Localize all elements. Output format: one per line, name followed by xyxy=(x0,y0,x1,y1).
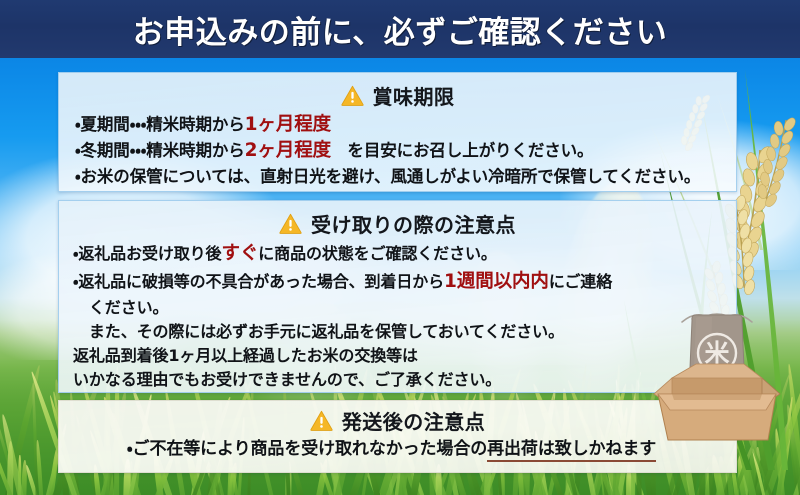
panel-body-after-shipping-notes: ・ご不在等により商品を受け取れなかった場合の再出荷は致しかねます xyxy=(59,437,736,461)
text-run: ください。 xyxy=(73,298,168,317)
panel-title-best-before: 賞味期限 xyxy=(373,81,455,110)
text-run: ・冬期間・・・精米時期から xyxy=(75,141,245,160)
text-line: ・夏期間・・・精米時期から1ヶ月程度 xyxy=(75,112,724,138)
warning-triangle-icon xyxy=(310,410,333,431)
text-line: ・冬期間・・・精米時期から2ヶ月程度 を目安にお召し上がりください。 xyxy=(75,138,724,164)
text-run: ・夏期間・・・精米時期から xyxy=(75,115,245,134)
text-run: ・返礼品お受け取り後 xyxy=(73,244,221,263)
highlight-red-text: 1ヶ月程度 xyxy=(245,114,331,135)
text-line: ・返礼品お受け取り後すぐに商品の状態をご確認ください。 xyxy=(73,240,724,268)
panel-header-receiving-notes: 受け取りの際の注意点 xyxy=(59,201,736,238)
warning-triangle-icon xyxy=(279,213,302,234)
text-line: いかなる理由でもお受けできませんので、ご了承ください。 xyxy=(73,368,724,392)
panel-body-best-before: ・夏期間・・・精米時期から1ヶ月程度・冬期間・・・精米時期から2ヶ月程度 を目安… xyxy=(59,112,736,189)
text-run: 返礼品到着後1ヶ月以上経過したお米の交換等は xyxy=(73,346,418,365)
text-run: ・ご不在等により商品を受け取れなかった場合の xyxy=(127,439,487,459)
text-run: を目安にお召し上がりください。 xyxy=(331,141,593,160)
page-header: お申込みの前に、必ずご確認ください xyxy=(0,0,800,58)
text-line: 返礼品到着後1ヶ月以上経過したお米の交換等は xyxy=(73,344,724,368)
underlined-text: 再出荷は致しかねます xyxy=(487,439,656,462)
text-run: ・返礼品に破損等の不具合があった場合、到着日から xyxy=(73,272,444,291)
rice-bag-in-open-box-illustration: 米 xyxy=(648,306,786,456)
text-line: ください。 xyxy=(73,296,724,320)
warning-triangle-icon xyxy=(341,85,364,106)
panel-title-receiving-notes: 受け取りの際の注意点 xyxy=(311,209,516,238)
text-line: ・ご不在等により商品を受け取れなかった場合の再出荷は致しかねます xyxy=(59,437,724,461)
panel-title-after-shipping-notes: 発送後の注意点 xyxy=(342,406,486,435)
highlight-red-text: すぐ xyxy=(221,243,258,264)
text-line: また、その際には必ずお手元に返礼品を保管しておいてください。 xyxy=(73,320,724,344)
panel-header-best-before: 賞味期限 xyxy=(59,73,736,110)
text-run: また、その際には必ずお手元に返礼品を保管しておいてください。 xyxy=(73,322,564,341)
text-line: ・お米の保管については、直射日光を避け、風通しがよい冷暗所で保管してください。 xyxy=(75,165,724,189)
panel-body-receiving-notes: ・返礼品お受け取り後すぐに商品の状態をご確認ください。・返礼品に破損等の不具合が… xyxy=(59,240,736,392)
screenshot-root: お申込みの前に、必ずご確認ください 賞味期限 ・夏期間・・・精米時期から1ヶ月程… xyxy=(0,0,800,495)
highlight-red-text: 1週間以内内 xyxy=(444,271,549,292)
text-run: にご連絡 xyxy=(549,272,612,291)
panel-receiving-notes: 受け取りの際の注意点 ・返礼品お受け取り後すぐに商品の状態をご確認ください。・返… xyxy=(58,200,737,393)
text-run: に商品の状態をご確認ください。 xyxy=(258,244,497,263)
box-inner-shadow xyxy=(672,394,762,400)
page-title: お申込みの前に、必ずご確認ください xyxy=(133,7,668,52)
text-run: いかなる理由でもお受けできませんので、ご了承ください。 xyxy=(73,370,501,389)
panel-best-before: 賞味期限 ・夏期間・・・精米時期から1ヶ月程度・冬期間・・・精米時期から2ヶ月程… xyxy=(58,72,737,192)
box-flap-back xyxy=(672,364,762,378)
panel-after-shipping-notes: 発送後の注意点 ・ご不在等により商品を受け取れなかった場合の再出荷は致しかねます xyxy=(58,400,737,473)
text-line: ・返礼品に破損等の不具合があった場合、到着日から1週間以内内にご連絡 xyxy=(73,268,724,296)
panel-header-after-shipping-notes: 発送後の注意点 xyxy=(59,401,736,435)
text-run: ・お米の保管については、直射日光を避け、風通しがよい冷暗所で保管してください。 xyxy=(75,167,700,186)
highlight-red-text: 2ヶ月程度 xyxy=(245,140,331,161)
